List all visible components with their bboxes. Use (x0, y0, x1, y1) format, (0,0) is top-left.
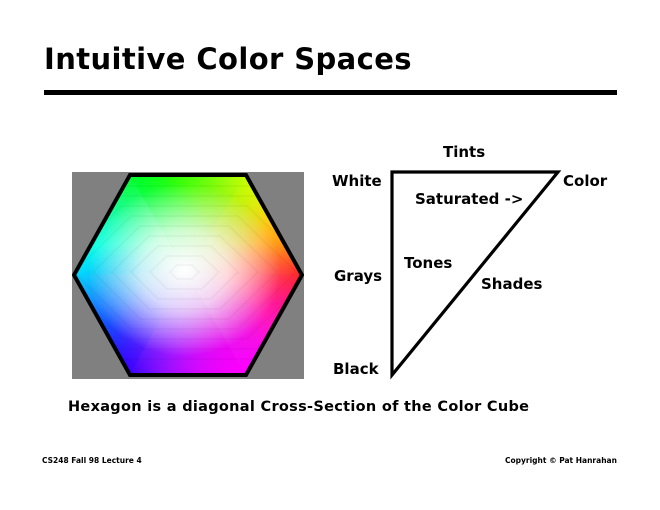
triangle-label-white: White (332, 174, 382, 189)
triangle-label-color: Color (563, 174, 607, 189)
slide-caption: Hexagon is a diagonal Cross-Section of t… (68, 399, 529, 415)
triangle-label-tints: Tints (443, 145, 485, 160)
triangle-label-tones: Tones (404, 256, 452, 271)
hexagon-fill (72, 172, 304, 379)
color-hexagon-image (72, 172, 304, 379)
triangle-label-shades: Shades (481, 277, 542, 292)
color-triangle-diagram: Tints White Color Saturated -> Tones Gra… (330, 138, 650, 388)
color-hexagon-panel (72, 172, 304, 379)
page-title: Intuitive Color Spaces (44, 42, 412, 76)
footer-course-label: CS248 Fall 98 Lecture 4 (42, 456, 142, 465)
triangle-label-black: Black (333, 362, 379, 377)
triangle-label-grays: Grays (334, 269, 382, 284)
slide-canvas: Intuitive Color Spaces (0, 0, 660, 510)
triangle-label-saturated: Saturated -> (415, 192, 523, 207)
title-underline-rule (44, 90, 617, 95)
footer-copyright-label: Copyright © Pat Hanrahan (505, 456, 617, 465)
